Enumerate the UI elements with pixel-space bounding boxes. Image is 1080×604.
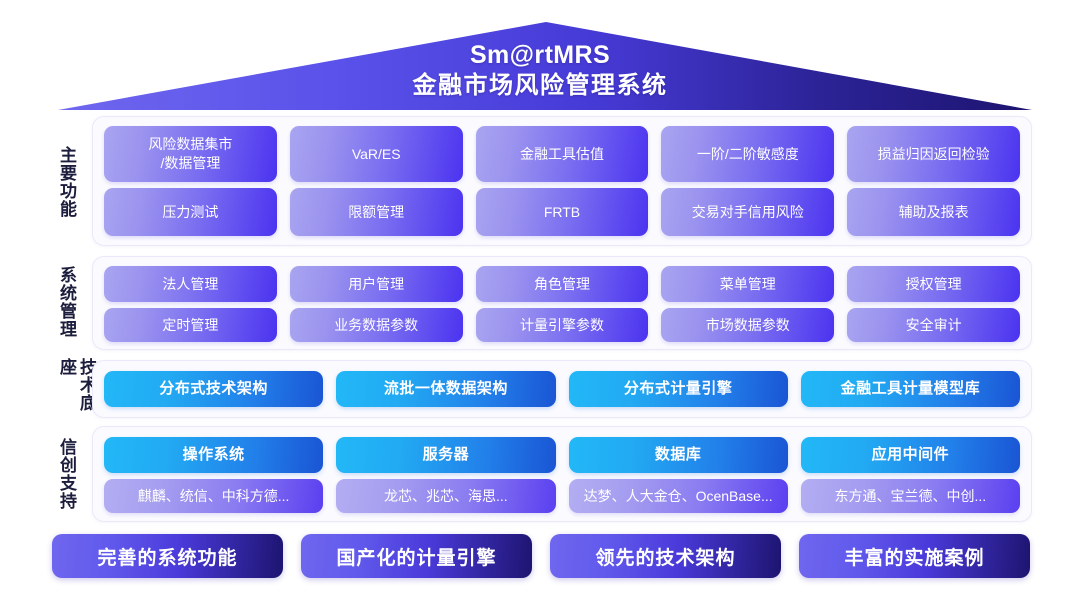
chip-database-vendors[interactable]: 达梦、人大金仓、OcenBase... [569,479,788,513]
chip-authorization-management[interactable]: 授权管理 [847,266,1020,302]
chip-row-xinchuang-1: 操作系统 服务器 数据库 应用中间件 [104,437,1020,473]
chip-security-audit[interactable]: 安全审计 [847,308,1020,342]
chip-market-data-params[interactable]: 市场数据参数 [661,308,834,342]
chip-risk-data-mart[interactable]: 风险数据集市 /数据管理 [104,126,277,182]
chip-auxiliary-reports[interactable]: 辅助及报表 [847,188,1020,236]
chip-row-sysmgmt-1: 法人管理 用户管理 角色管理 菜单管理 授权管理 [104,266,1020,302]
highlight-rich-implementation-cases[interactable]: 丰富的实施案例 [799,534,1030,578]
chip-instrument-valuation[interactable]: 金融工具估值 [476,126,649,182]
chip-frtb[interactable]: FRTB [476,188,649,236]
chip-user-management[interactable]: 用户管理 [290,266,463,302]
chip-schedule-management[interactable]: 定时管理 [104,308,277,342]
rail-label-tech-foundation: 技术底座 [56,358,96,418]
highlight-domestic-calc-engine[interactable]: 国产化的计量引擎 [301,534,532,578]
chip-distributed-tech-architecture[interactable]: 分布式技术架构 [104,371,323,407]
chip-row-sysmgmt-2: 定时管理 业务数据参数 计量引擎参数 市场数据参数 安全审计 [104,308,1020,342]
chip-role-management[interactable]: 角色管理 [476,266,649,302]
roof-triangle-icon [0,0,1080,118]
highlight-complete-system-functions[interactable]: 完善的系统功能 [52,534,283,578]
chip-var-es[interactable]: VaR/ES [290,126,463,182]
chip-server[interactable]: 服务器 [336,437,555,473]
highlight-leading-tech-architecture[interactable]: 领先的技术架构 [550,534,781,578]
chip-middleware-vendors[interactable]: 东方通、宝兰德、中创... [801,479,1020,513]
chip-business-data-params[interactable]: 业务数据参数 [290,308,463,342]
chip-menu-management[interactable]: 菜单管理 [661,266,834,302]
architecture-diagram: Sm@rtMRS 金融市场风险管理系统 主要功能 系统管理 技术底座 信创支持 … [0,0,1080,604]
chip-pnl-attribution-backtest[interactable]: 损益归因返回检验 [847,126,1020,182]
chip-server-vendors[interactable]: 龙芯、兆芯、海思... [336,479,555,513]
chip-row-main-1: 风险数据集市 /数据管理 VaR/ES 金融工具估值 一阶/二阶敏感度 损益归因… [104,126,1020,182]
chip-limit-management[interactable]: 限额管理 [290,188,463,236]
chip-row-xinchuang-2: 麒麟、统信、中科方德... 龙芯、兆芯、海思... 达梦、人大金仓、OcenBa… [104,479,1020,513]
rail-label-main-functions: 主要功能 [56,124,76,240]
chip-legal-entity-management[interactable]: 法人管理 [104,266,277,302]
roof-banner: Sm@rtMRS 金融市场风险管理系统 [0,0,1080,118]
chip-stream-batch-data-architecture[interactable]: 流批一体数据架构 [336,371,555,407]
chip-distributed-calc-engine[interactable]: 分布式计量引擎 [569,371,788,407]
rail-label-system-management: 系统管理 [56,258,76,346]
chip-os-vendors[interactable]: 麒麟、统信、中科方德... [104,479,323,513]
rail-label-xinchuang-support: 信创支持 [56,428,76,520]
highlights-bar: 完善的系统功能 国产化的计量引擎 领先的技术架构 丰富的实施案例 [52,534,1030,578]
chip-first-second-order-sensitivity[interactable]: 一阶/二阶敏感度 [661,126,834,182]
chip-application-middleware[interactable]: 应用中间件 [801,437,1020,473]
chip-instrument-model-library[interactable]: 金融工具计量模型库 [801,371,1020,407]
chip-stress-testing[interactable]: 压力测试 [104,188,277,236]
chip-calc-engine-params[interactable]: 计量引擎参数 [476,308,649,342]
chip-database[interactable]: 数据库 [569,437,788,473]
chip-operating-system[interactable]: 操作系统 [104,437,323,473]
chip-counterparty-credit-risk[interactable]: 交易对手信用风险 [661,188,834,236]
chip-row-tech: 分布式技术架构 流批一体数据架构 分布式计量引擎 金融工具计量模型库 [104,371,1020,407]
chip-row-main-2: 压力测试 限额管理 FRTB 交易对手信用风险 辅助及报表 [104,188,1020,236]
